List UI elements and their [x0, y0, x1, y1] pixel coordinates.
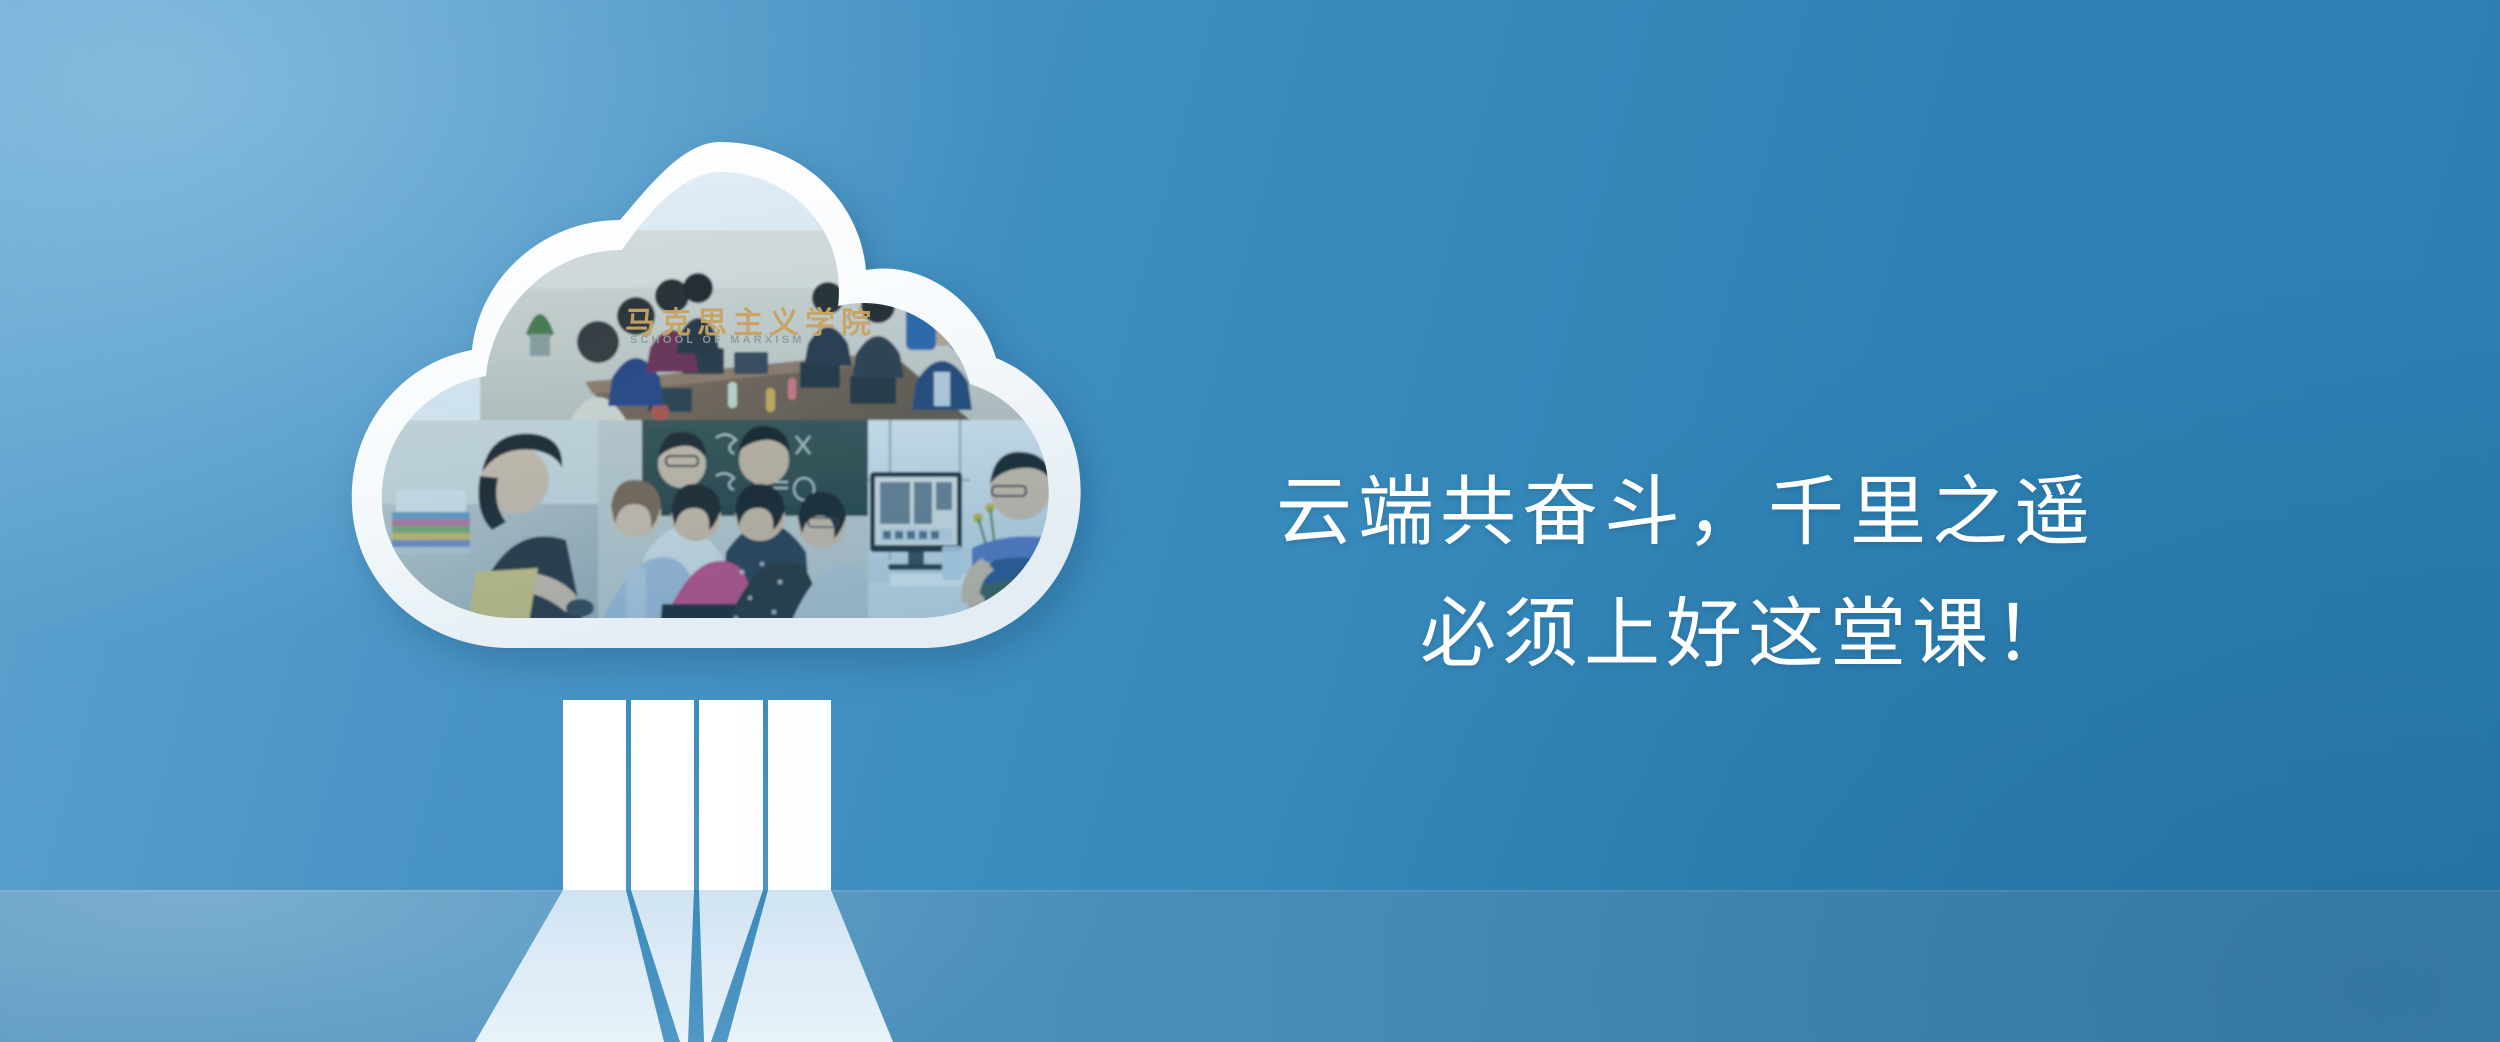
headline-line-1: 云端共奋斗，千里之遥: [1276, 452, 2276, 574]
banner-stage: 马克思主义学院 SCHOOL OF MARXISM 云端共奋斗，千里之遥 必须上…: [0, 0, 2500, 1042]
wall-sign-english: SCHOOL OF MARXISM: [630, 334, 805, 346]
headline-block: 云端共奋斗，千里之遥 必须上好这堂课！: [1276, 452, 2276, 696]
perspective-road: [0, 890, 2500, 1042]
cloud-collage: 马克思主义学院 SCHOOL OF MARXISM: [330, 120, 1100, 730]
headline-line-2: 必须上好这堂课！: [1276, 574, 2276, 696]
cloud-shape: [330, 120, 1100, 730]
road-surface: [0, 890, 2500, 1042]
